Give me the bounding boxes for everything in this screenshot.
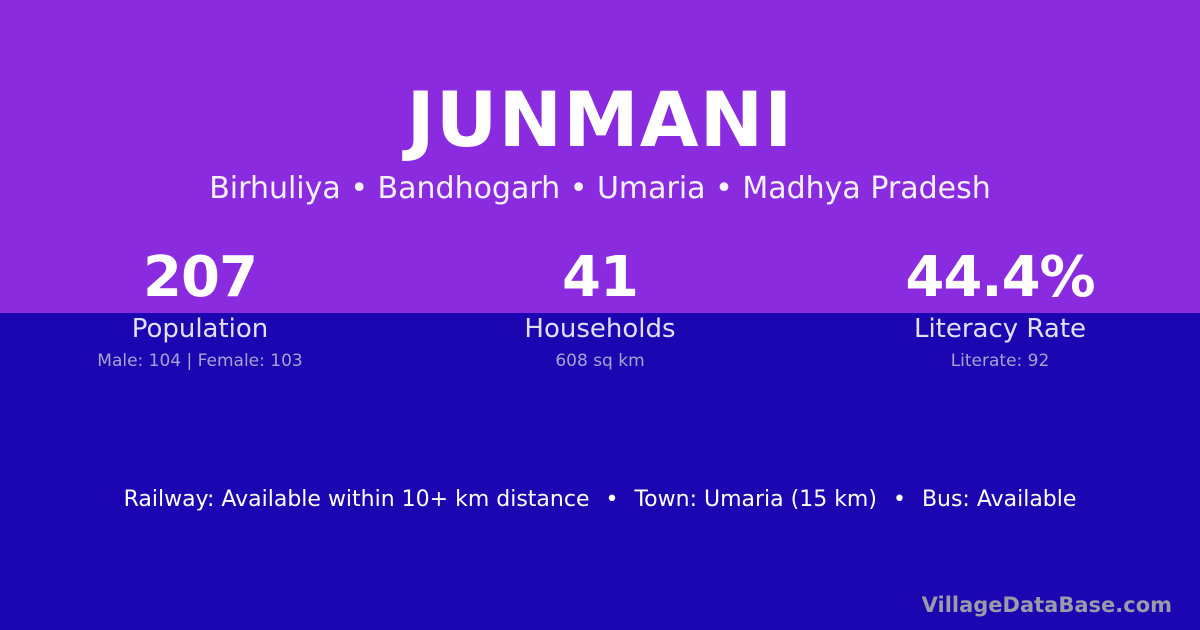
stat-literacy-rate-detail: Literate: 92 (800, 350, 1200, 372)
stat-population: 207 Population Male: 104 | Female: 103 (0, 248, 400, 372)
infra-town: Town: Umaria (15 km) (634, 487, 876, 512)
breadcrumb: Birhuliya • Bandhogarh • Umaria • Madhya… (0, 158, 1200, 204)
stat-population-value: 207 (0, 248, 400, 308)
site-watermark: VillageDataBase.com (922, 592, 1172, 618)
stat-households-label: Households (400, 314, 800, 344)
stats-row: 207 Population Male: 104 | Female: 103 4… (0, 248, 1200, 372)
stat-literacy-rate-value: 44.4% (800, 248, 1200, 308)
bullet-separator-icon: • (596, 486, 627, 514)
stat-population-detail: Male: 104 | Female: 103 (0, 350, 400, 372)
page-title: JUNMANI (0, 0, 1200, 158)
stat-households: 41 Households 608 sq km (400, 248, 800, 372)
stat-literacy-rate: 44.4% Literacy Rate Literate: 92 (800, 248, 1200, 372)
infra-bus: Bus: Available (922, 487, 1076, 512)
bullet-separator-icon: • (884, 486, 915, 514)
card-header: JUNMANI Birhuliya • Bandhogarh • Umaria … (0, 0, 1200, 204)
village-info-card: JUNMANI Birhuliya • Bandhogarh • Umaria … (0, 0, 1200, 630)
infra-railway: Railway: Available within 10+ km distanc… (124, 487, 590, 512)
stat-households-detail: 608 sq km (400, 350, 800, 372)
stat-population-label: Population (0, 314, 400, 344)
infrastructure-line: Railway: Available within 10+ km distanc… (0, 486, 1200, 514)
stat-literacy-rate-label: Literacy Rate (800, 314, 1200, 344)
stat-households-value: 41 (400, 248, 800, 308)
